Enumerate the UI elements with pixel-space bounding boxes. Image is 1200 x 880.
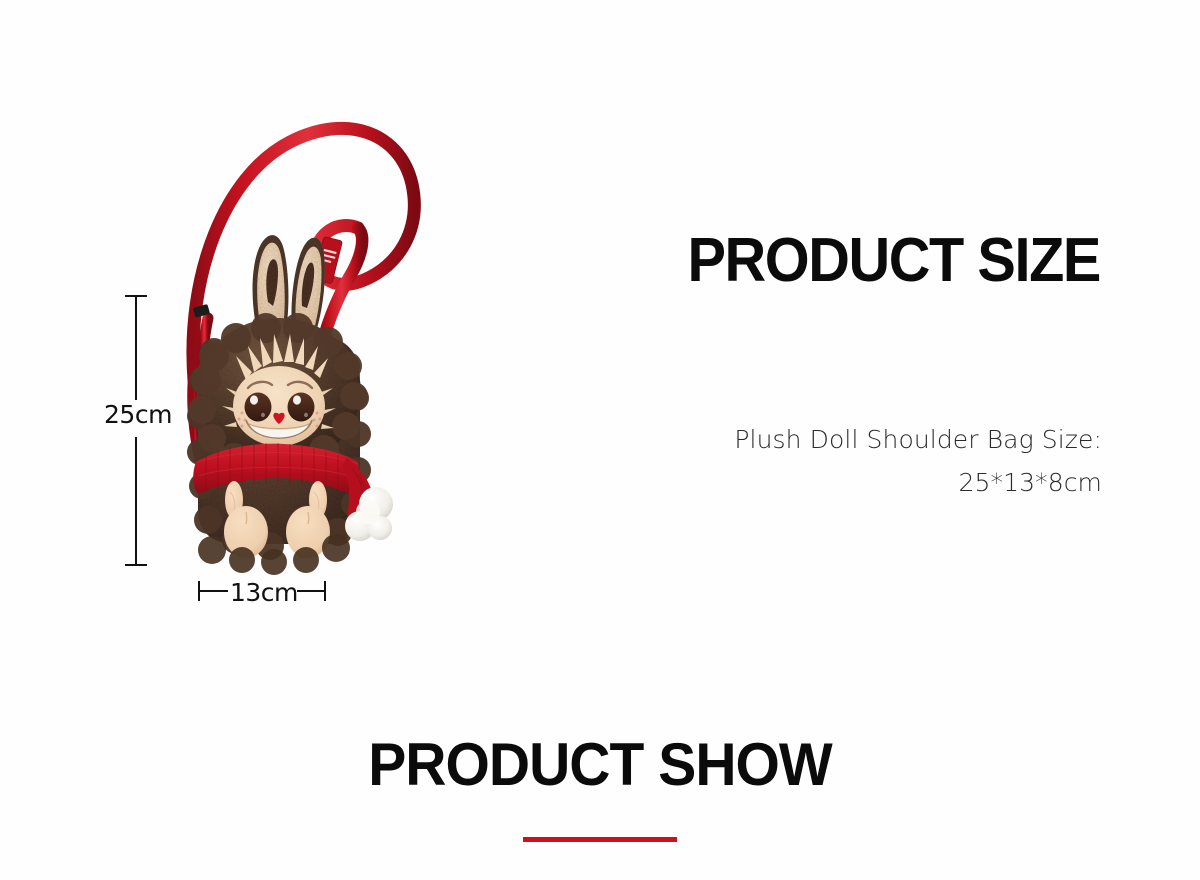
- dimension-line-width-right: [297, 590, 325, 592]
- size-description-line-1: Plush Doll Shoulder Bag Size:: [582, 418, 1102, 461]
- product-show-heading: PRODUCT SHOW: [30, 735, 1170, 795]
- product-size-heading: PRODUCT SIZE: [616, 230, 1100, 292]
- product-show-section: PRODUCT SHOW: [0, 735, 1200, 842]
- dimension-cap-bottom: [125, 564, 147, 566]
- product-size-description: Plush Doll Shoulder Bag Size: 25*13*8cm: [582, 418, 1102, 504]
- dimension-line-width-left: [199, 590, 229, 592]
- dimension-cap-right: [324, 581, 326, 601]
- product-photo-panel: 25cm 13cm: [0, 0, 600, 720]
- dimension-line-height-lower: [135, 437, 137, 565]
- dimension-line-height-upper: [135, 296, 137, 400]
- size-description-line-2: 25*13*8cm: [582, 461, 1102, 504]
- section-divider-rule: [523, 837, 677, 842]
- product-image-plush-doll-shoulder-bag: [150, 80, 450, 580]
- dimension-label-width: 13cm: [228, 578, 300, 607]
- dimension-label-height: 25cm: [100, 400, 176, 429]
